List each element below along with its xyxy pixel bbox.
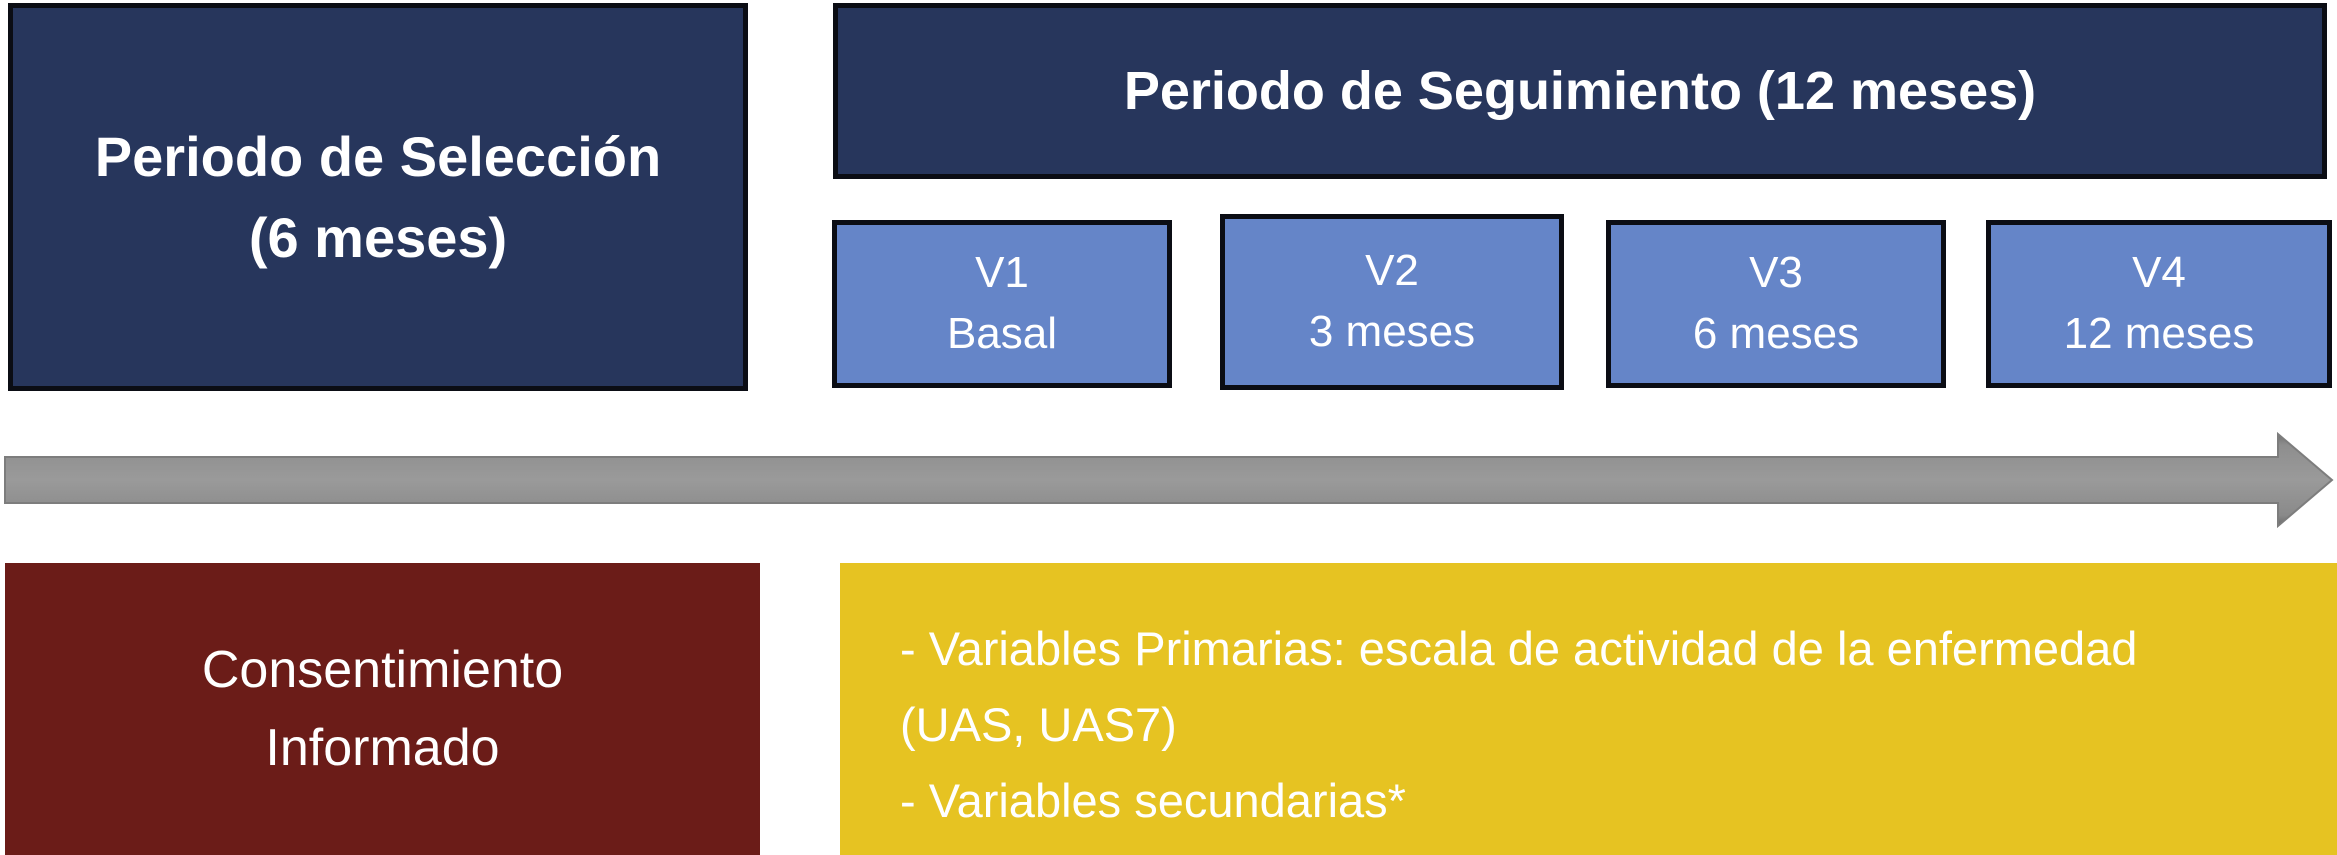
visit-name-v4: V4 xyxy=(2132,243,2186,304)
visit-name-v3: V3 xyxy=(1749,243,1803,304)
visit-detail-v2: 3 meses xyxy=(1309,302,1475,363)
selection-period-box: Periodo de Selección (6 meses) xyxy=(8,3,748,391)
visit-detail-v4: 12 meses xyxy=(2064,304,2255,365)
variables-line2: (UAS, UAS7) xyxy=(900,687,1177,763)
visit-detail-v1: Basal xyxy=(947,304,1057,365)
visit-name-v1: V1 xyxy=(975,243,1029,304)
selection-period-line2: (6 meses) xyxy=(249,197,507,278)
informed-consent-box: Consentimiento Informado xyxy=(5,563,760,855)
visit-box-v2: V2 3 meses xyxy=(1220,214,1564,390)
visit-box-v3: V3 6 meses xyxy=(1606,220,1946,388)
followup-period-label: Periodo de Seguimiento (12 meses) xyxy=(1124,60,2036,122)
variables-box: - Variables Primarias: escala de activid… xyxy=(840,563,2337,855)
consent-line2: Informado xyxy=(265,709,499,787)
visit-name-v2: V2 xyxy=(1365,241,1419,302)
study-design-diagram: Periodo de Selección (6 meses) Periodo d… xyxy=(0,0,2337,855)
variables-line3: - Variables secundarias* xyxy=(900,763,1406,839)
timeline-right-arrow-icon xyxy=(0,428,2337,532)
visit-box-v1: V1 Basal xyxy=(832,220,1172,388)
consent-line1: Consentimiento xyxy=(202,631,563,709)
visit-detail-v3: 6 meses xyxy=(1693,304,1859,365)
variables-line1: - Variables Primarias: escala de activid… xyxy=(900,611,2137,687)
visit-box-v4: V4 12 meses xyxy=(1986,220,2332,388)
followup-period-box: Periodo de Seguimiento (12 meses) xyxy=(833,3,2327,179)
selection-period-line1: Periodo de Selección xyxy=(95,116,661,197)
